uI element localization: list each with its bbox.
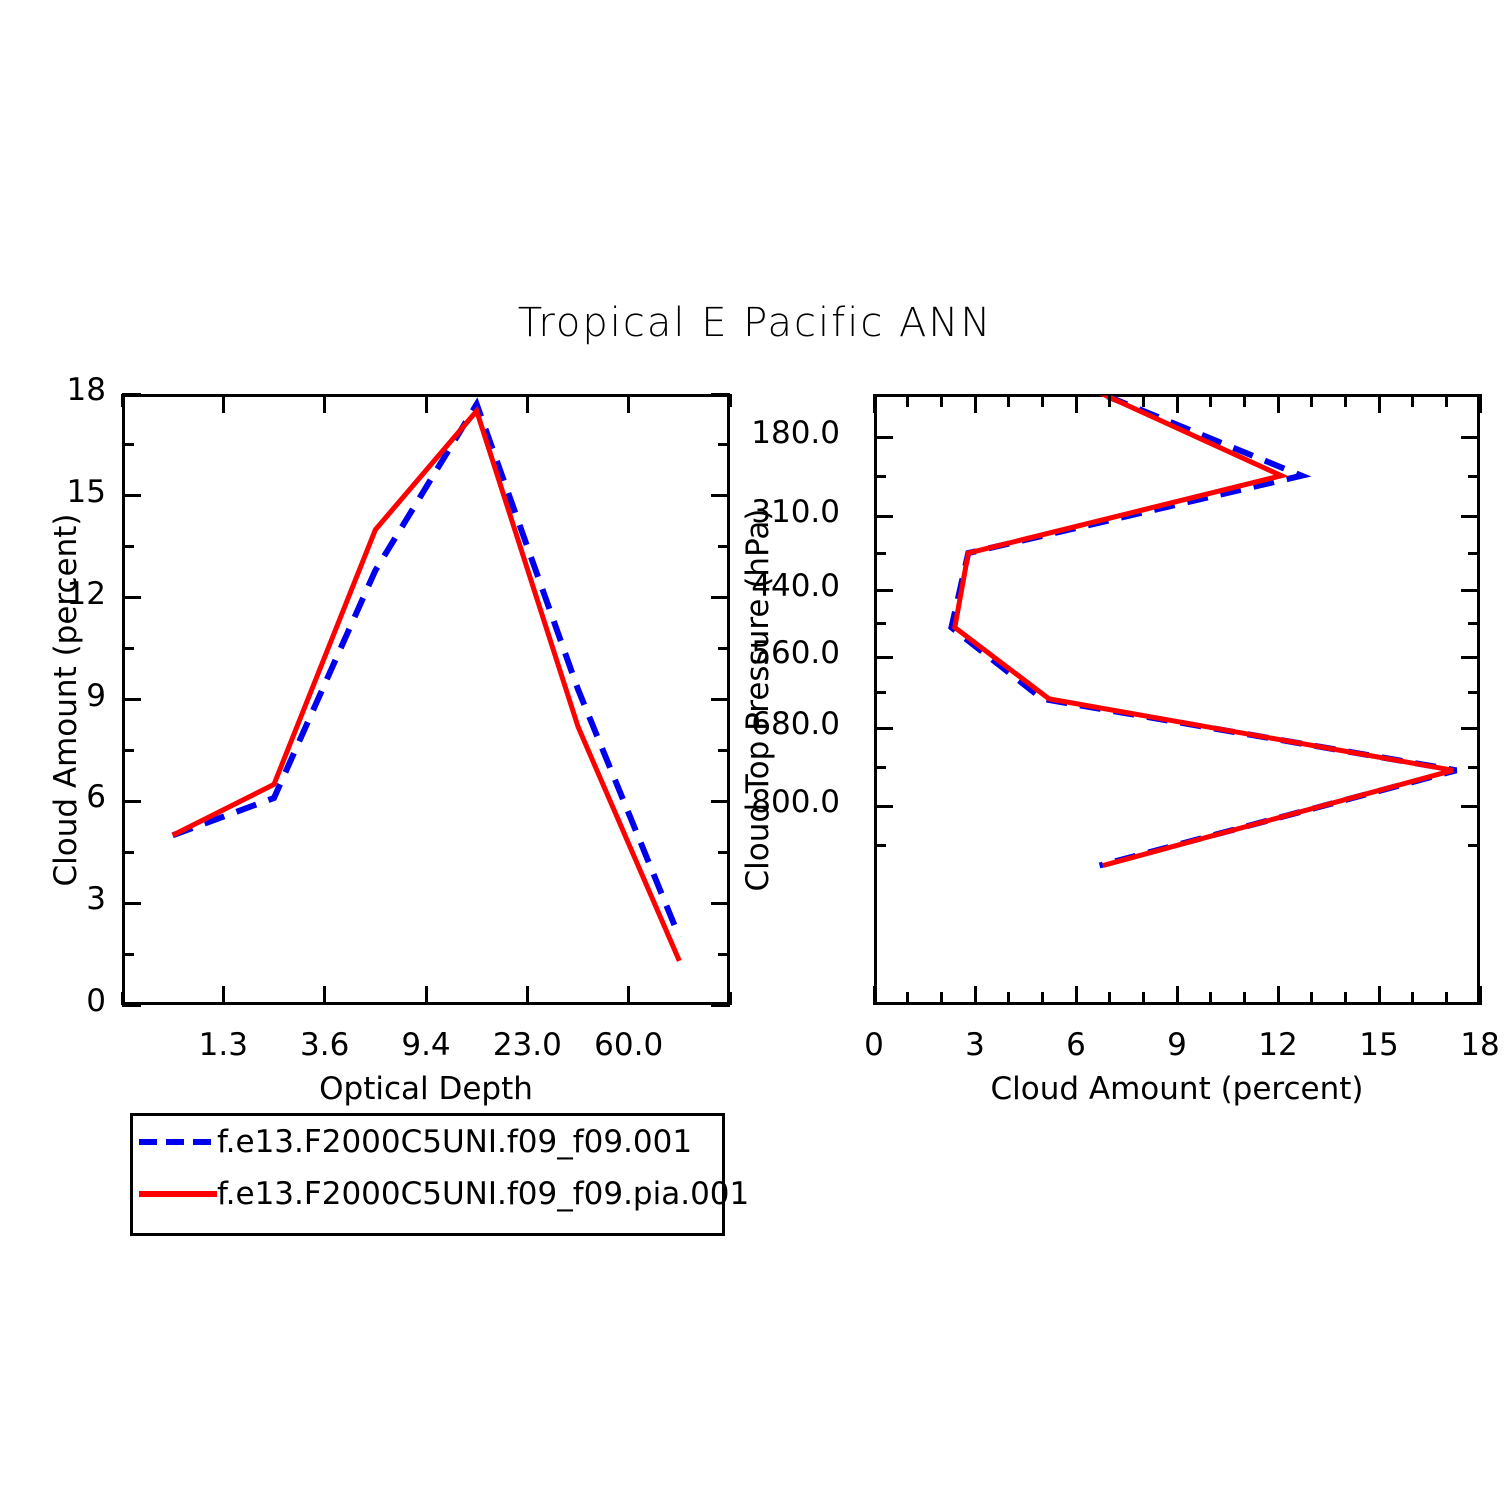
ca-tick-top-18 <box>1479 394 1482 413</box>
ca-tick-top-14 <box>1344 394 1347 407</box>
p-tick-minor-right-0 <box>1468 475 1480 478</box>
ca-tick-7 <box>1108 992 1111 1005</box>
p-tick-right-800 <box>1461 805 1480 808</box>
p-tick-minor-right-1 <box>1468 552 1480 555</box>
series-line-1 <box>955 383 1453 865</box>
p-tick-560 <box>874 656 893 659</box>
p-tick-minor-right-3 <box>1468 691 1480 694</box>
ca-tick-top-1 <box>906 394 909 407</box>
p-tick-minor-4 <box>874 766 886 769</box>
ca-tick-1 <box>906 992 909 1005</box>
ca-tick-top-17 <box>1445 394 1448 407</box>
legend-label: f.e13.F2000C5UNI.f09_f09.pia.001 <box>217 1176 749 1212</box>
ca-tick-label-0: 0 <box>864 1027 884 1063</box>
series-line-0 <box>951 383 1456 865</box>
ca-tick-0 <box>873 986 876 1005</box>
ca-tick-top-16 <box>1411 394 1414 407</box>
ca-tick-14 <box>1344 992 1347 1005</box>
ca-tick-2 <box>940 992 943 1005</box>
ca-tick-3 <box>974 986 977 1005</box>
cloud-top-pressure-clip-group <box>951 383 1456 865</box>
ca-tick-9 <box>1176 986 1179 1005</box>
ca-tick-top-2 <box>940 394 943 407</box>
p-tick-right-560 <box>1461 656 1480 659</box>
ca-tick-15 <box>1378 986 1381 1005</box>
ca-tick-label-12: 12 <box>1258 1027 1297 1063</box>
p-tick-180 <box>874 436 893 439</box>
legend-item: f.e13.F2000C5UNI.f09_f09.001 <box>133 1116 722 1168</box>
p-tick-800 <box>874 805 893 808</box>
p-tick-right-680 <box>1461 727 1480 730</box>
ca-tick-top-4 <box>1007 394 1010 407</box>
p-tick-minor-ext-1 <box>874 844 886 847</box>
ca-tick-label-15: 15 <box>1359 1027 1398 1063</box>
p-tick-minor-0 <box>874 475 886 478</box>
ca-tick-top-9 <box>1176 394 1179 413</box>
p-tick-minor-2 <box>874 622 886 625</box>
p-tick-440 <box>874 589 893 592</box>
ca-tick-top-7 <box>1108 394 1111 407</box>
legend-line-swatch-dashed <box>139 1132 217 1152</box>
ca-tick-16 <box>1411 992 1414 1005</box>
ca-tick-10 <box>1209 992 1212 1005</box>
p-tick-label-180: 180.0 <box>751 415 840 451</box>
ca-tick-top-8 <box>1142 394 1145 407</box>
ca-tick-11 <box>1243 992 1246 1005</box>
chart-canvas: Tropical E Pacific ANN 03691215181.33.69… <box>0 0 1510 1510</box>
p-tick-minor-1 <box>874 552 886 555</box>
p-tick-minor-ext-right-1 <box>1468 844 1480 847</box>
ca-tick-label-9: 9 <box>1167 1027 1187 1063</box>
ca-tick-top-5 <box>1041 394 1044 407</box>
ca-tick-top-13 <box>1310 394 1313 407</box>
legend-label: f.e13.F2000C5UNI.f09_f09.001 <box>217 1124 692 1160</box>
p-tick-680 <box>874 727 893 730</box>
p-tick-right-310 <box>1461 515 1480 518</box>
ca-tick-12 <box>1277 986 1280 1005</box>
p-tick-310 <box>874 515 893 518</box>
ca-tick-8 <box>1142 992 1145 1005</box>
cloud-top-pressure-y-axis-title: Cloud Top Pressure (hPa) <box>740 508 776 891</box>
ca-tick-top-10 <box>1209 394 1212 407</box>
cloud-top-pressure-x-axis-title: Cloud Amount (percent) <box>991 1071 1364 1107</box>
ca-tick-label-18: 18 <box>1460 1027 1499 1063</box>
ca-tick-top-12 <box>1277 394 1280 413</box>
ca-tick-label-6: 6 <box>1066 1027 1086 1063</box>
ca-tick-18 <box>1479 986 1482 1005</box>
ca-tick-13 <box>1310 992 1313 1005</box>
p-tick-minor-3 <box>874 691 886 694</box>
legend-box: f.e13.F2000C5UNI.f09_f09.001 f.e13.F2000… <box>130 1113 725 1236</box>
ca-tick-top-15 <box>1378 394 1381 413</box>
ca-tick-top-11 <box>1243 394 1246 407</box>
ca-tick-label-3: 3 <box>965 1027 985 1063</box>
p-tick-minor-right-2 <box>1468 622 1480 625</box>
ca-tick-17 <box>1445 992 1448 1005</box>
p-tick-minor-right-4 <box>1468 766 1480 769</box>
p-tick-right-180 <box>1461 436 1480 439</box>
ca-tick-top-6 <box>1075 394 1078 413</box>
legend-line-swatch-solid <box>139 1184 217 1204</box>
p-tick-right-440 <box>1461 589 1480 592</box>
ca-tick-top-0 <box>873 394 876 413</box>
ca-tick-top-3 <box>974 394 977 413</box>
ca-tick-5 <box>1041 992 1044 1005</box>
ca-tick-6 <box>1075 986 1078 1005</box>
legend-item: f.e13.F2000C5UNI.f09_f09.pia.001 <box>133 1168 722 1220</box>
ca-tick-4 <box>1007 992 1010 1005</box>
